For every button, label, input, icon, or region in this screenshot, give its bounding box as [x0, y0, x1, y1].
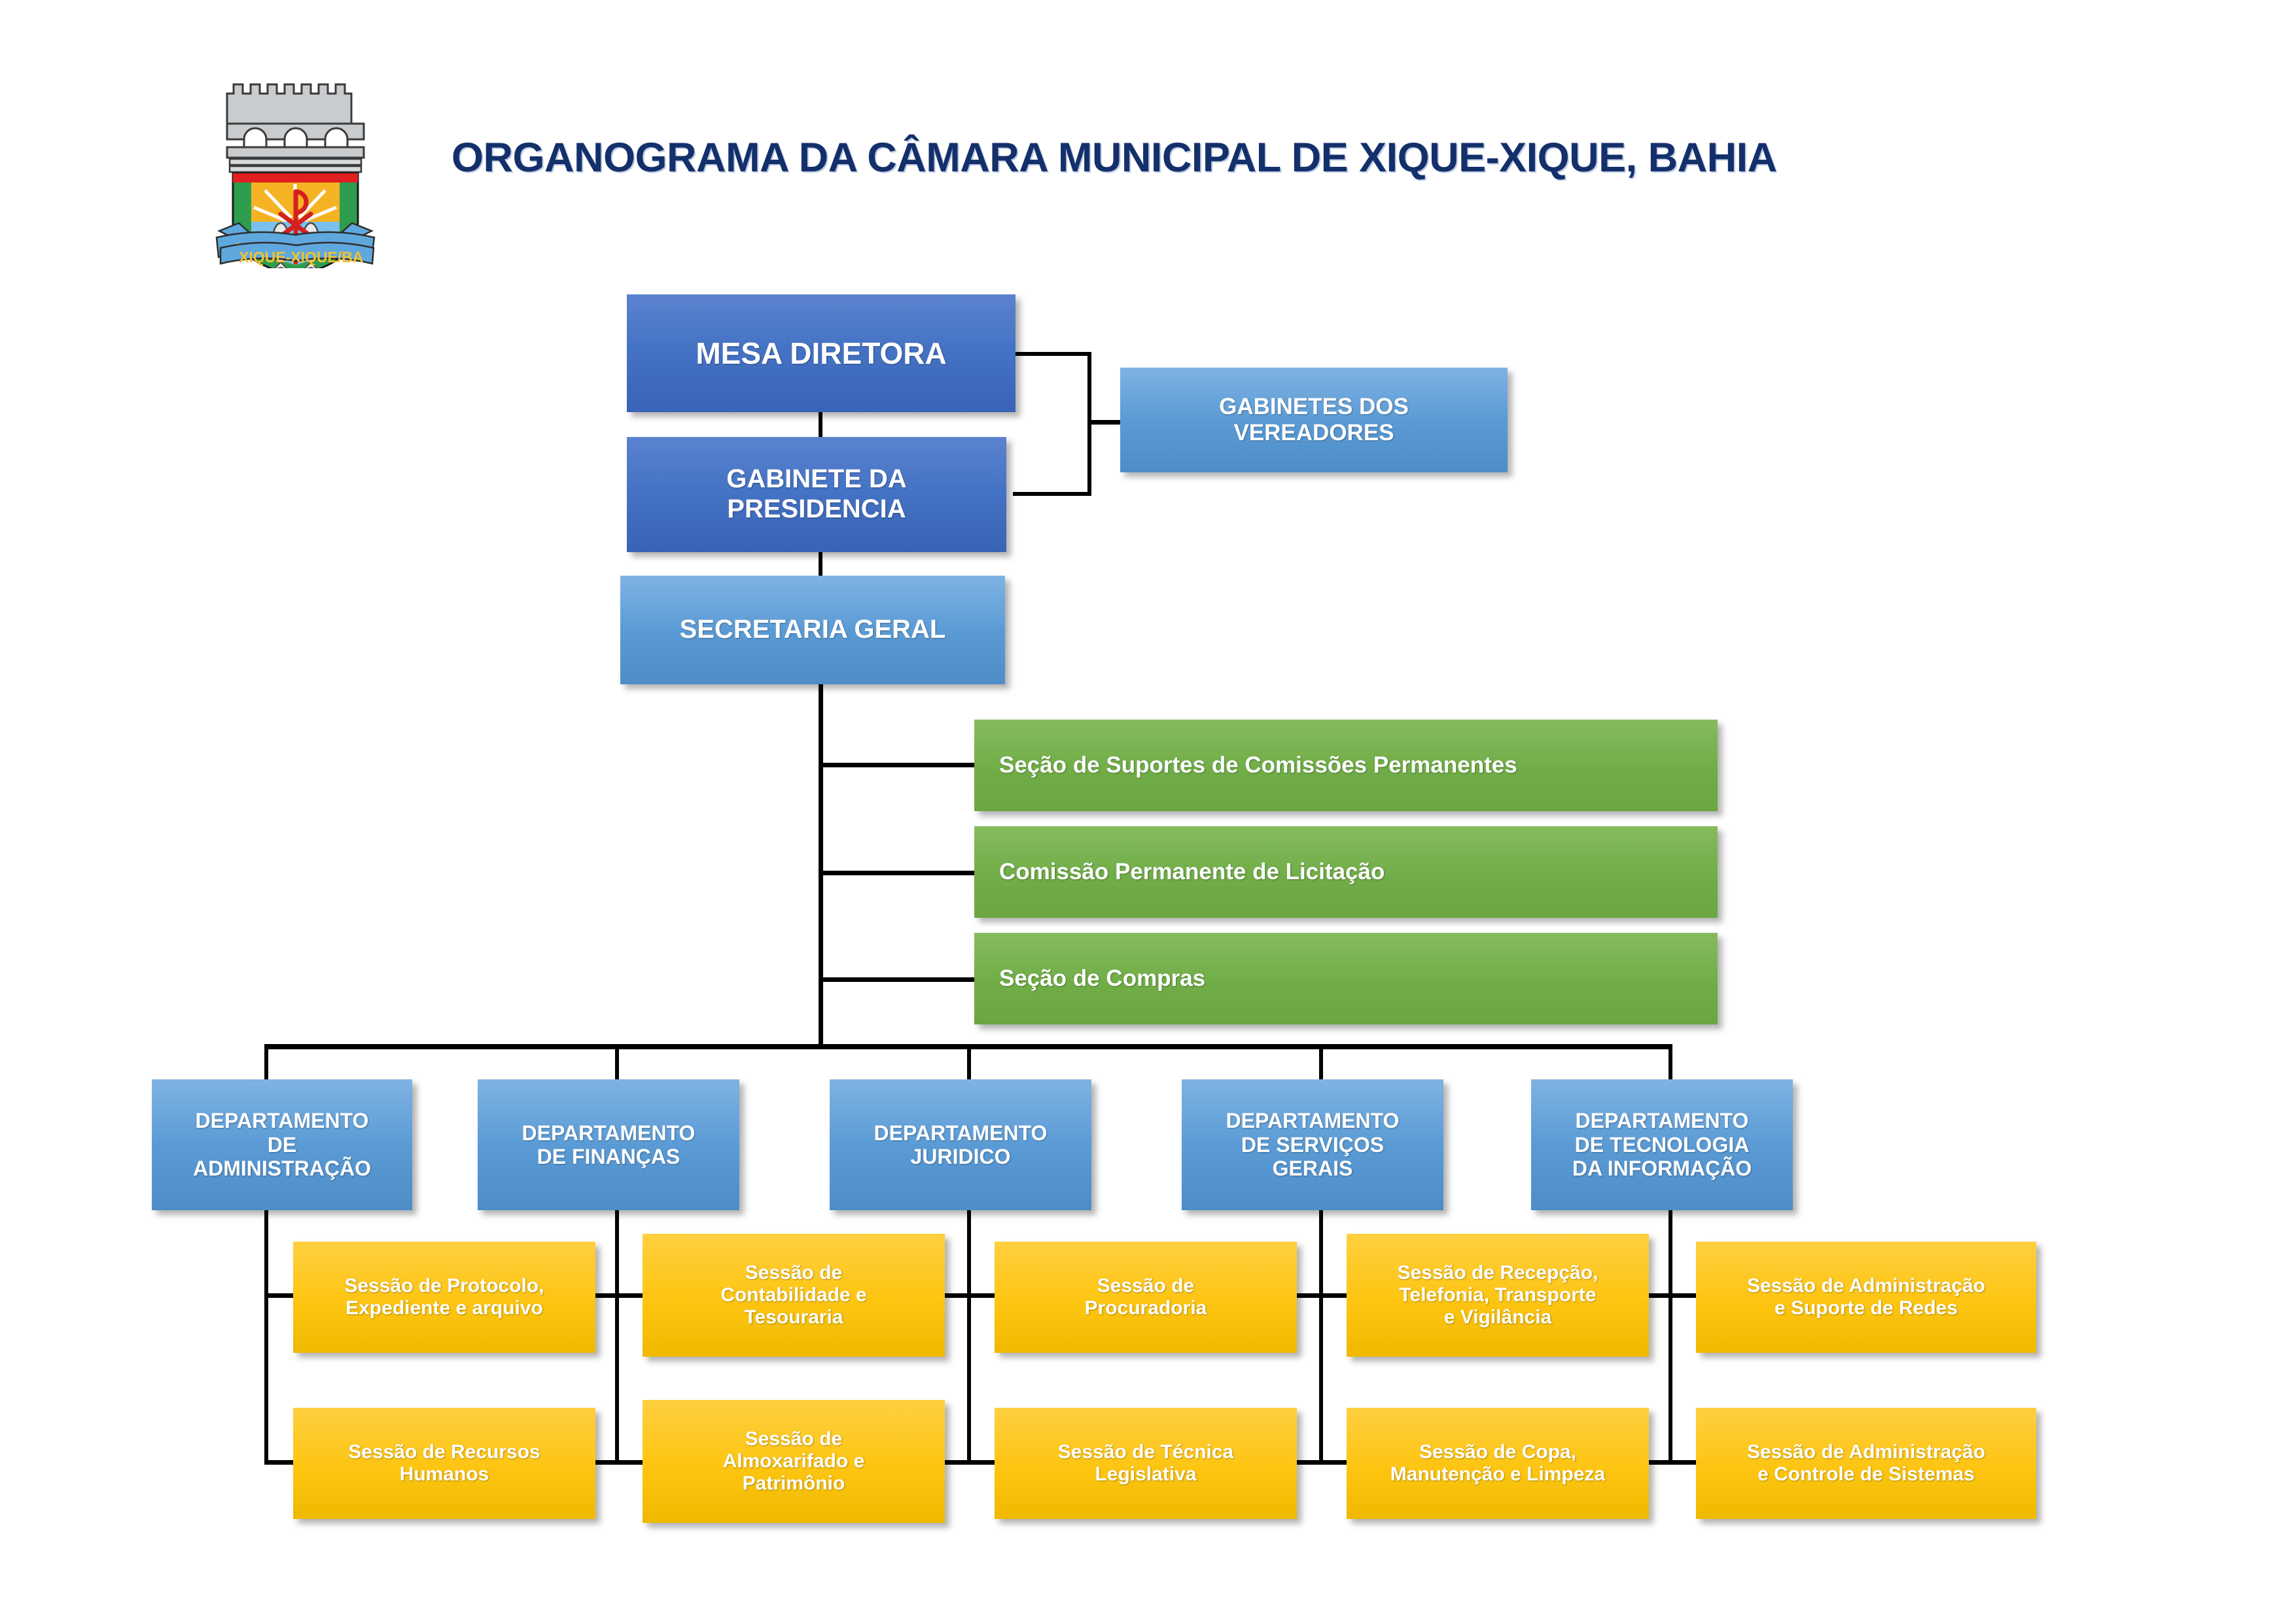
crest-motto: XIQUE-XIQUE/BA	[239, 249, 363, 266]
node-sessao-administracao-suporte-redes-label: Sessão de Administração e Suporte de Red…	[1696, 1275, 2036, 1319]
node-sessao-procuradoria-label: Sessão de Procuradoria	[995, 1275, 1297, 1319]
node-secretaria-geral-label: SECRETARIA GERAL	[620, 615, 1005, 645]
node-sessao-recursos-humanos[interactable]: Sessão de Recursos Humanos	[293, 1408, 595, 1519]
connector-dept2-trunk	[615, 1206, 619, 1465]
node-gabinetes-vereadores-label: GABINETES DOS VEREADORES	[1120, 394, 1508, 446]
connector-dept1-trunk	[264, 1206, 268, 1465]
connector-dept1-child1	[264, 1293, 296, 1298]
node-secao-compras-label: Seção de Compras	[999, 966, 1718, 992]
node-departamento-servicos-gerais-label: DEPARTAMENTO DE SERVIÇOS GERAIS	[1182, 1109, 1443, 1180]
node-departamento-administracao-label: DEPARTAMENTO DE ADMINISTRAÇÃO	[152, 1109, 412, 1180]
connector-branch-secao-suportes	[819, 763, 978, 767]
node-sessao-tecnica-legislativa-label: Sessão de Técnica Legislativa	[995, 1441, 1297, 1486]
connector-secretaria-trunk	[819, 684, 823, 1048]
node-sessao-recepcao-telefonia-transporte-vigilancia-label: Sessão de Recepção, Telefonia, Transport…	[1347, 1262, 1649, 1329]
node-sessao-administracao-suporte-redes[interactable]: Sessão de Administração e Suporte de Red…	[1696, 1242, 2036, 1353]
page-header: 06/07 1932 XIQUE-XIQUE/BA ORGANOGRAMA DA…	[0, 0, 2296, 275]
node-gabinete-presidencia-label: GABINETE DA PRESIDENCIA	[627, 464, 1006, 524]
node-departamento-tecnologia-informacao-label: DEPARTAMENTO DE TECNOLOGIA DA INFORMAÇÃO	[1531, 1109, 1793, 1180]
node-gabinete-presidencia[interactable]: GABINETE DA PRESIDENCIA	[627, 437, 1006, 552]
node-sessao-protocolo-expediente-arquivo-label: Sessão de Protocolo, Expediente e arquiv…	[293, 1275, 595, 1319]
connector-dept3-child1	[941, 1293, 997, 1298]
node-mesa-diretora-label: MESA DIRETORA	[627, 336, 1016, 370]
node-comissao-permanente-licitacao[interactable]: Comissão Permanente de Licitação	[974, 826, 1718, 918]
connector-dept3-trunk	[967, 1206, 971, 1465]
node-departamento-juridico-label: DEPARTAMENTO JURIDICO	[830, 1121, 1091, 1169]
node-secao-suportes-comissoes-label: Seção de Suportes de Comissões Permanent…	[999, 752, 1718, 778]
node-sessao-protocolo-expediente-arquivo[interactable]: Sessão de Protocolo, Expediente e arquiv…	[293, 1242, 595, 1353]
connector-dept4-child1	[1293, 1293, 1349, 1298]
node-sessao-almoxarifado-patrimonio[interactable]: Sessão de Almoxarifado e Patrimônio	[643, 1400, 945, 1523]
connector-dept1-child2	[264, 1460, 296, 1465]
node-sessao-tecnica-legislativa[interactable]: Sessão de Técnica Legislativa	[995, 1408, 1297, 1519]
node-sessao-administracao-controle-sistemas-label: Sessão de Administração e Controle de Si…	[1696, 1441, 2036, 1486]
node-departamento-financas-label: DEPARTAMENTO DE FINANÇAS	[478, 1121, 739, 1169]
page-title: ORGANOGRAMA DA CÂMARA MUNICIPAL DE XIQUE…	[451, 134, 1777, 181]
connector-dept5-child2	[1642, 1460, 1699, 1465]
node-departamento-financas[interactable]: DEPARTAMENTO DE FINANÇAS	[478, 1079, 739, 1210]
connector-dept3-child2	[941, 1460, 997, 1465]
connector-dept2-child2	[589, 1460, 645, 1465]
node-comissao-permanente-licitacao-label: Comissão Permanente de Licitação	[999, 859, 1718, 885]
connector-dept5-trunk	[1669, 1206, 1672, 1465]
node-secao-compras[interactable]: Seção de Compras	[974, 933, 1718, 1024]
node-sessao-procuradoria[interactable]: Sessão de Procuradoria	[995, 1242, 1297, 1353]
node-sessao-contabilidade-tesouraria[interactable]: Sessão de Contabilidade e Tesouraria	[643, 1234, 945, 1357]
connector-branch-secao-compras	[819, 977, 978, 982]
node-secao-suportes-comissoes[interactable]: Seção de Suportes de Comissões Permanent…	[974, 720, 1718, 811]
connector-gabinete-right	[1013, 492, 1091, 496]
node-gabinetes-vereadores[interactable]: GABINETES DOS VEREADORES	[1120, 368, 1508, 472]
connector-dept4-child2	[1293, 1460, 1349, 1465]
node-departamento-administracao[interactable]: DEPARTAMENTO DE ADMINISTRAÇÃO	[152, 1079, 412, 1210]
node-sessao-copa-manutencao-limpeza[interactable]: Sessão de Copa, Manutenção e Limpeza	[1347, 1408, 1649, 1519]
node-departamento-servicos-gerais[interactable]: DEPARTAMENTO DE SERVIÇOS GERAIS	[1182, 1079, 1443, 1210]
organogram-canvas: 06/07 1932 XIQUE-XIQUE/BA ORGANOGRAMA DA…	[0, 0, 2296, 1623]
connector-mesa-right	[1013, 352, 1091, 356]
node-secretaria-geral[interactable]: SECRETARIA GERAL	[620, 576, 1005, 684]
connector-dept4-trunk	[1319, 1206, 1323, 1465]
connector-dept5-child1	[1642, 1293, 1699, 1298]
node-sessao-administracao-controle-sistemas[interactable]: Sessão de Administração e Controle de Si…	[1696, 1408, 2036, 1519]
node-sessao-contabilidade-tesouraria-label: Sessão de Contabilidade e Tesouraria	[643, 1262, 945, 1329]
node-sessao-almoxarifado-patrimonio-label: Sessão de Almoxarifado e Patrimônio	[643, 1428, 945, 1495]
connector-mesa-gabinete	[819, 412, 822, 440]
connector-gabinete-secretaria	[819, 550, 822, 577]
node-sessao-recursos-humanos-label: Sessão de Recursos Humanos	[293, 1441, 595, 1486]
node-mesa-diretora[interactable]: MESA DIRETORA	[627, 294, 1016, 412]
connector-branch-comissao-licitacao	[819, 871, 978, 875]
node-departamento-juridico[interactable]: DEPARTAMENTO JURIDICO	[830, 1079, 1091, 1210]
node-sessao-copa-manutencao-limpeza-label: Sessão de Copa, Manutenção e Limpeza	[1347, 1441, 1649, 1486]
node-departamento-tecnologia-informacao[interactable]: DEPARTAMENTO DE TECNOLOGIA DA INFORMAÇÃO	[1531, 1079, 1793, 1210]
connector-dept2-child1	[589, 1293, 645, 1298]
coat-of-arms-icon: 06/07 1932 XIQUE-XIQUE/BA	[213, 56, 393, 268]
node-sessao-recepcao-telefonia-transporte-vigilancia[interactable]: Sessão de Recepção, Telefonia, Transport…	[1347, 1234, 1649, 1357]
